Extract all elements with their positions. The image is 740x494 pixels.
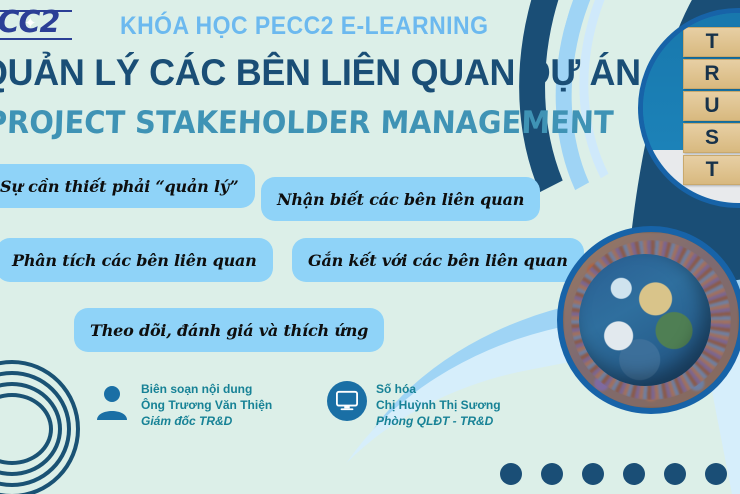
trust-blocks-photo: T R U S T bbox=[638, 8, 740, 208]
credit-person: Ông Trương Văn Thiện bbox=[141, 397, 272, 413]
credit-role: Biên soạn nội dung bbox=[141, 381, 272, 397]
credit-person: Chị Huỳnh Thị Sương bbox=[376, 397, 501, 413]
decorative-dot bbox=[541, 463, 563, 485]
page-title-english: PROJECT STAKEHOLDER MANAGEMENT bbox=[0, 105, 614, 141]
credit-role: Số hóa bbox=[376, 381, 501, 397]
bottom-dot-row bbox=[500, 463, 727, 485]
credit-digitization: Số hóa Chị Huỳnh Thị Sương Phòng QLĐT - … bbox=[327, 381, 501, 429]
bottom-left-concentric-arcs bbox=[0, 360, 72, 490]
star-icon: ✦ bbox=[24, 16, 37, 31]
topic-pill-4[interactable]: Gắn kết với các bên liên quan bbox=[292, 238, 584, 282]
slide-canvas: ECC2 ✦ KHÓA HỌC PECC2 E-LEARNING QUẢN LÝ… bbox=[0, 0, 740, 494]
credit-position: Phòng QLĐT - TR&D bbox=[376, 413, 501, 429]
decorative-dot bbox=[500, 463, 522, 485]
trust-block-letter: U bbox=[683, 91, 740, 121]
trust-blocks-stack: T R U S T bbox=[683, 27, 740, 187]
trust-block-letter: R bbox=[683, 59, 740, 89]
trust-block-letter: S bbox=[683, 123, 740, 153]
monitor-icon bbox=[327, 381, 367, 421]
globe-photo-earth bbox=[579, 254, 711, 386]
trust-block-letter: T bbox=[683, 155, 740, 185]
credit-text-block: Số hóa Chị Huỳnh Thị Sương Phòng QLĐT - … bbox=[376, 381, 501, 429]
topic-pill-3[interactable]: Phân tích các bên liên quan bbox=[0, 238, 273, 282]
decorative-dot bbox=[664, 463, 686, 485]
decorative-dot bbox=[582, 463, 604, 485]
topic-pill-5[interactable]: Theo dõi, đánh giá và thích ứng bbox=[74, 308, 384, 352]
topic-pill-1[interactable]: Sự cần thiết phải “quản lý” bbox=[0, 164, 255, 208]
course-kicker: KHÓA HỌC PECC2 E-LEARNING bbox=[120, 12, 488, 41]
page-title-vietnamese: QUẢN LÝ CÁC BÊN LIÊN QUAN DỰ ÁN bbox=[0, 52, 641, 94]
topic-pill-2[interactable]: Nhận biết các bên liên quan bbox=[261, 177, 540, 221]
pecc2-logo: ECC2 ✦ bbox=[0, 4, 74, 44]
decorative-dot bbox=[705, 463, 727, 485]
trust-block-letter: T bbox=[683, 27, 740, 57]
decorative-dot bbox=[623, 463, 645, 485]
credit-content-author: Biên soạn nội dung Ông Trương Văn Thiện … bbox=[92, 381, 272, 429]
credit-position: Giám đốc TR&D bbox=[141, 413, 272, 429]
person-icon bbox=[92, 381, 132, 421]
globe-with-people-photo bbox=[557, 226, 740, 414]
credit-text-block: Biên soạn nội dung Ông Trương Văn Thiện … bbox=[141, 381, 272, 429]
